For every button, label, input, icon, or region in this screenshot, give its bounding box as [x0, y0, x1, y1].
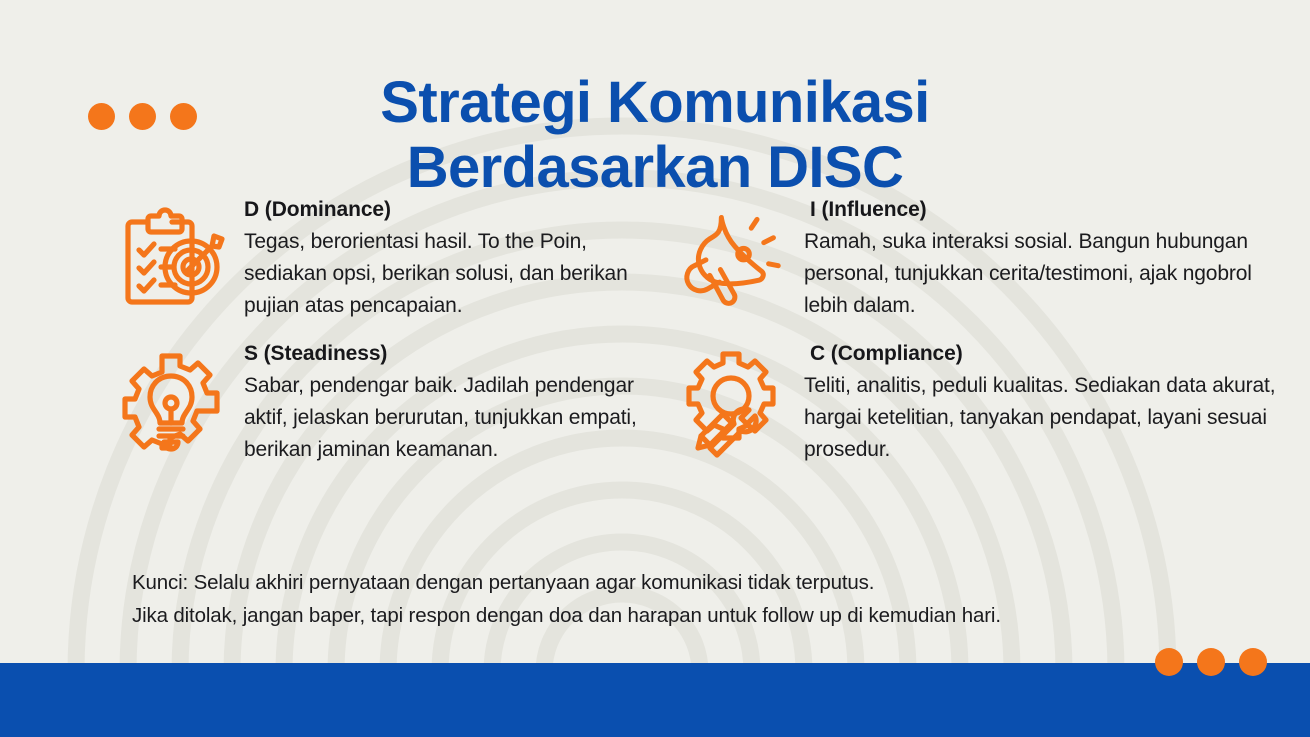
dot	[1239, 648, 1267, 676]
slide-title-line-2: Berdasarkan DISC	[0, 136, 1310, 201]
slide-title: Strategi Komunikasi Berdasarkan DISC	[0, 71, 1310, 201]
quadrant-dominance-heading: D (Dominance)	[244, 198, 672, 222]
decorative-dots-bottom-right	[1155, 648, 1267, 676]
gear-pencil-wrench-icon	[672, 340, 790, 458]
quadrant-dominance-text: Tegas, berorientasi hasil. To the Poin, …	[244, 226, 672, 322]
footer-blue-band	[0, 663, 1310, 737]
closing-note-line-2: Jika ditolak, jangan baper, tapi respon …	[132, 599, 1001, 632]
quadrant-steadiness-text: Sabar, pendengar baik. Jadilah pendengar…	[244, 370, 672, 466]
dot	[88, 103, 115, 130]
closing-note-line-1: Kunci: Selalu akhiri pernyataan dengan p…	[132, 566, 1001, 599]
dot	[1197, 648, 1225, 676]
quadrant-compliance-heading: C (Compliance)	[804, 342, 1310, 366]
quadrant-influence: I (Influence) Ramah, suka interaksi sosi…	[672, 196, 1310, 322]
quadrant-compliance-text: Teliti, analitis, peduli kualitas. Sedia…	[804, 370, 1294, 466]
quadrant-dominance-body: D (Dominance) Tegas, berorientasi hasil.…	[244, 196, 672, 322]
decorative-dots-top-left	[88, 103, 197, 130]
dot	[170, 103, 197, 130]
dot	[1155, 648, 1183, 676]
quadrant-influence-text: Ramah, suka interaksi sosial. Bangun hub…	[804, 226, 1294, 322]
quadrant-steadiness-heading: S (Steadiness)	[244, 342, 672, 366]
quadrant-influence-heading: I (Influence)	[804, 198, 1310, 222]
slide-canvas: Strategi Komunikasi Berdasarkan DISC	[0, 0, 1310, 737]
disc-quadrant-grid: D (Dominance) Tegas, berorientasi hasil.…	[0, 196, 1310, 465]
quadrant-influence-body: I (Influence) Ramah, suka interaksi sosi…	[804, 196, 1310, 322]
closing-note: Kunci: Selalu akhiri pernyataan dengan p…	[132, 566, 1001, 632]
clipboard-target-icon	[112, 196, 230, 314]
dot	[129, 103, 156, 130]
lightbulb-gear-icon	[112, 340, 230, 458]
quadrant-steadiness: S (Steadiness) Sabar, pendengar baik. Ja…	[112, 340, 672, 466]
quadrant-dominance: D (Dominance) Tegas, berorientasi hasil.…	[112, 196, 672, 322]
quadrant-compliance: C (Compliance) Teliti, analitis, peduli …	[672, 340, 1310, 466]
quadrant-steadiness-body: S (Steadiness) Sabar, pendengar baik. Ja…	[244, 340, 672, 466]
quadrant-compliance-body: C (Compliance) Teliti, analitis, peduli …	[804, 340, 1310, 466]
megaphone-icon	[672, 196, 790, 314]
